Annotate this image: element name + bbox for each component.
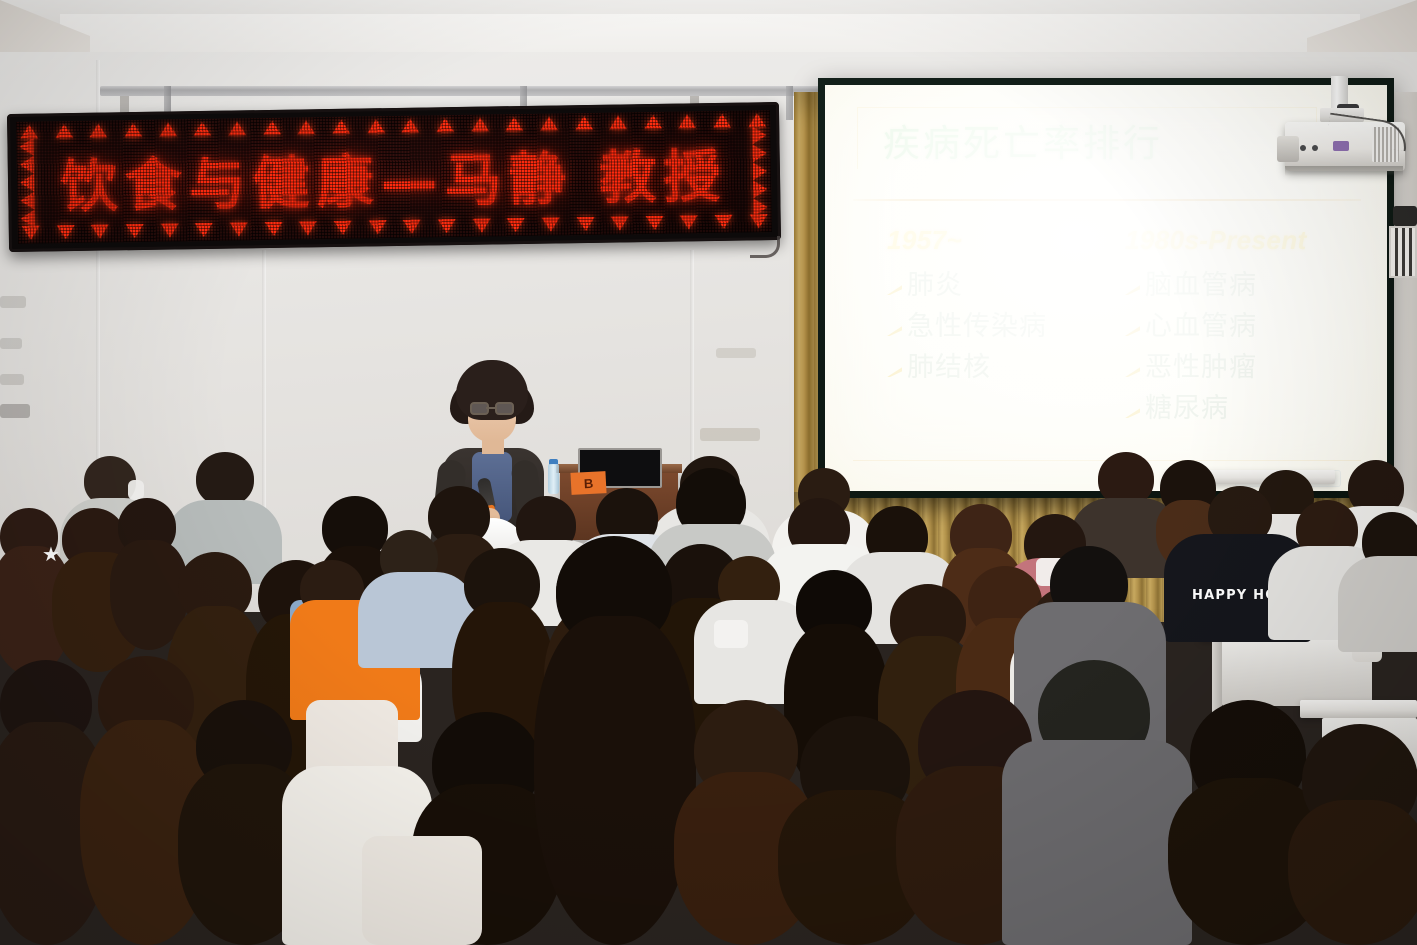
star-hairclip-icon: ★: [42, 542, 60, 567]
face-mask: [714, 620, 748, 648]
lecture-hall-scene: 饮食与健康—马静 教授 疾病死亡率排行 1957~ 肺炎 急性传染病: [0, 0, 1417, 945]
audience: ★: [0, 0, 1417, 945]
desk: [1300, 700, 1417, 718]
